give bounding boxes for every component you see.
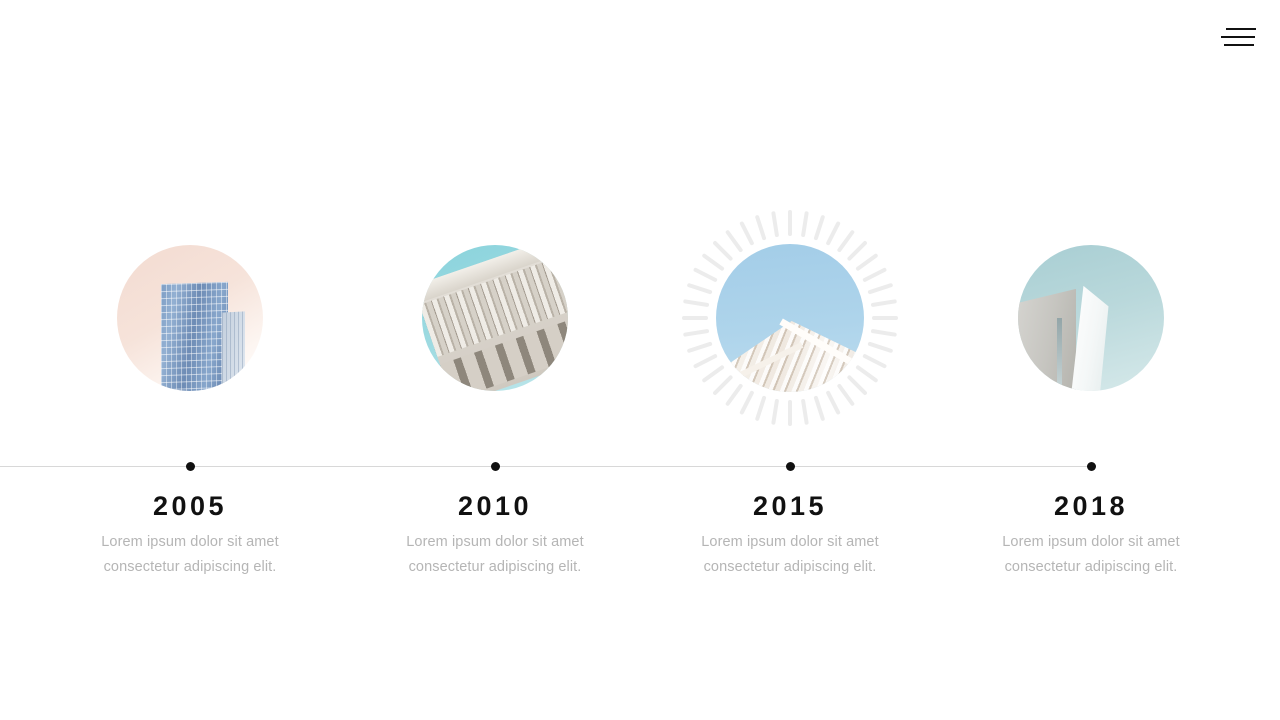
timeline-year: 2005	[70, 488, 310, 524]
sunburst-ray	[813, 395, 825, 421]
sunburst-ray	[872, 316, 898, 320]
sunburst-ray	[813, 215, 825, 241]
timeline-thumbnail-wrap	[40, 168, 340, 468]
timeline-dot[interactable]	[186, 462, 195, 471]
sunburst-ray	[801, 211, 809, 237]
sunburst-ray	[682, 316, 708, 320]
sunburst-ray	[771, 399, 779, 425]
timeline-image[interactable]	[716, 244, 864, 392]
sunburst-ray	[788, 210, 792, 236]
sunburst-ray	[683, 299, 709, 307]
timeline-description-line2: consectetur adipiscing elit.	[670, 555, 910, 580]
sunburst-ray	[683, 329, 709, 337]
timeline-description: Lorem ipsum dolor sit ametconsectetur ad…	[670, 530, 910, 580]
scene-background	[1018, 245, 1164, 391]
timeline-items: 2005Lorem ipsum dolor sit ametconsectetu…	[0, 0, 1280, 720]
concrete-wall-shape	[1018, 289, 1076, 391]
timeline-description-line1: Lorem ipsum dolor sit amet	[375, 530, 615, 555]
sunburst-ray	[687, 283, 713, 295]
sunburst-ray	[862, 353, 887, 368]
sunburst-ray	[825, 221, 840, 246]
sunburst-ray	[862, 267, 887, 282]
timeline-thumbnail-wrap	[345, 168, 645, 468]
timeline-image[interactable]	[1018, 245, 1164, 391]
sunburst-ray	[867, 341, 893, 353]
sunburst-ray	[693, 267, 718, 282]
timeline-caption: 2015Lorem ipsum dolor sit ametconsectetu…	[670, 488, 910, 580]
sunburst-ray	[739, 221, 754, 246]
timeline-dot[interactable]	[491, 462, 500, 471]
sunburst-ray	[693, 353, 718, 368]
timeline-dot[interactable]	[1087, 462, 1096, 471]
sunburst-ray	[867, 283, 893, 295]
timeline-description-line1: Lorem ipsum dolor sit amet	[70, 530, 310, 555]
timeline-description-line1: Lorem ipsum dolor sit amet	[670, 530, 910, 555]
timeline-description-line1: Lorem ipsum dolor sit amet	[971, 530, 1211, 555]
wall-gap-shape	[1057, 318, 1061, 391]
sunburst-ray	[755, 215, 767, 241]
colonnade-shape	[422, 245, 568, 391]
timeline-description-line2: consectetur adipiscing elit.	[971, 555, 1211, 580]
scene-background	[117, 245, 263, 391]
timeline-year: 2010	[375, 488, 615, 524]
sunburst-ray	[871, 299, 897, 307]
timeline-description-line2: consectetur adipiscing elit.	[375, 555, 615, 580]
timeline-caption: 2018Lorem ipsum dolor sit ametconsectetu…	[971, 488, 1211, 580]
sunburst-ray	[687, 341, 713, 353]
timeline-image[interactable]	[117, 245, 263, 391]
sunburst-ray	[788, 400, 792, 426]
timeline-description: Lorem ipsum dolor sit ametconsectetur ad…	[70, 530, 310, 580]
sunburst-ray	[801, 399, 809, 425]
timeline-slide: 2005Lorem ipsum dolor sit ametconsectetu…	[0, 0, 1280, 720]
timeline-thumbnail-wrap	[941, 168, 1241, 468]
skyscraper-side-shape	[222, 312, 245, 391]
timeline-description: Lorem ipsum dolor sit ametconsectetur ad…	[375, 530, 615, 580]
sunburst-ray	[871, 329, 897, 337]
timeline-year: 2018	[971, 488, 1211, 524]
scene-background	[422, 245, 568, 391]
timeline-image[interactable]	[422, 245, 568, 391]
scene-background	[716, 244, 864, 392]
timeline-description-line2: consectetur adipiscing elit.	[70, 555, 310, 580]
sunburst-ray	[755, 395, 767, 421]
sunburst-ray	[825, 390, 840, 415]
sunburst-ray	[771, 211, 779, 237]
timeline-thumbnail-wrap	[640, 168, 940, 468]
timeline-caption: 2005Lorem ipsum dolor sit ametconsectetu…	[70, 488, 310, 580]
timeline-year: 2015	[670, 488, 910, 524]
timeline-dot[interactable]	[786, 462, 795, 471]
timeline-caption: 2010Lorem ipsum dolor sit ametconsectetu…	[375, 488, 615, 580]
sunburst-ray	[739, 390, 754, 415]
timeline-description: Lorem ipsum dolor sit ametconsectetur ad…	[971, 530, 1211, 580]
skyscraper-shape	[161, 282, 228, 391]
